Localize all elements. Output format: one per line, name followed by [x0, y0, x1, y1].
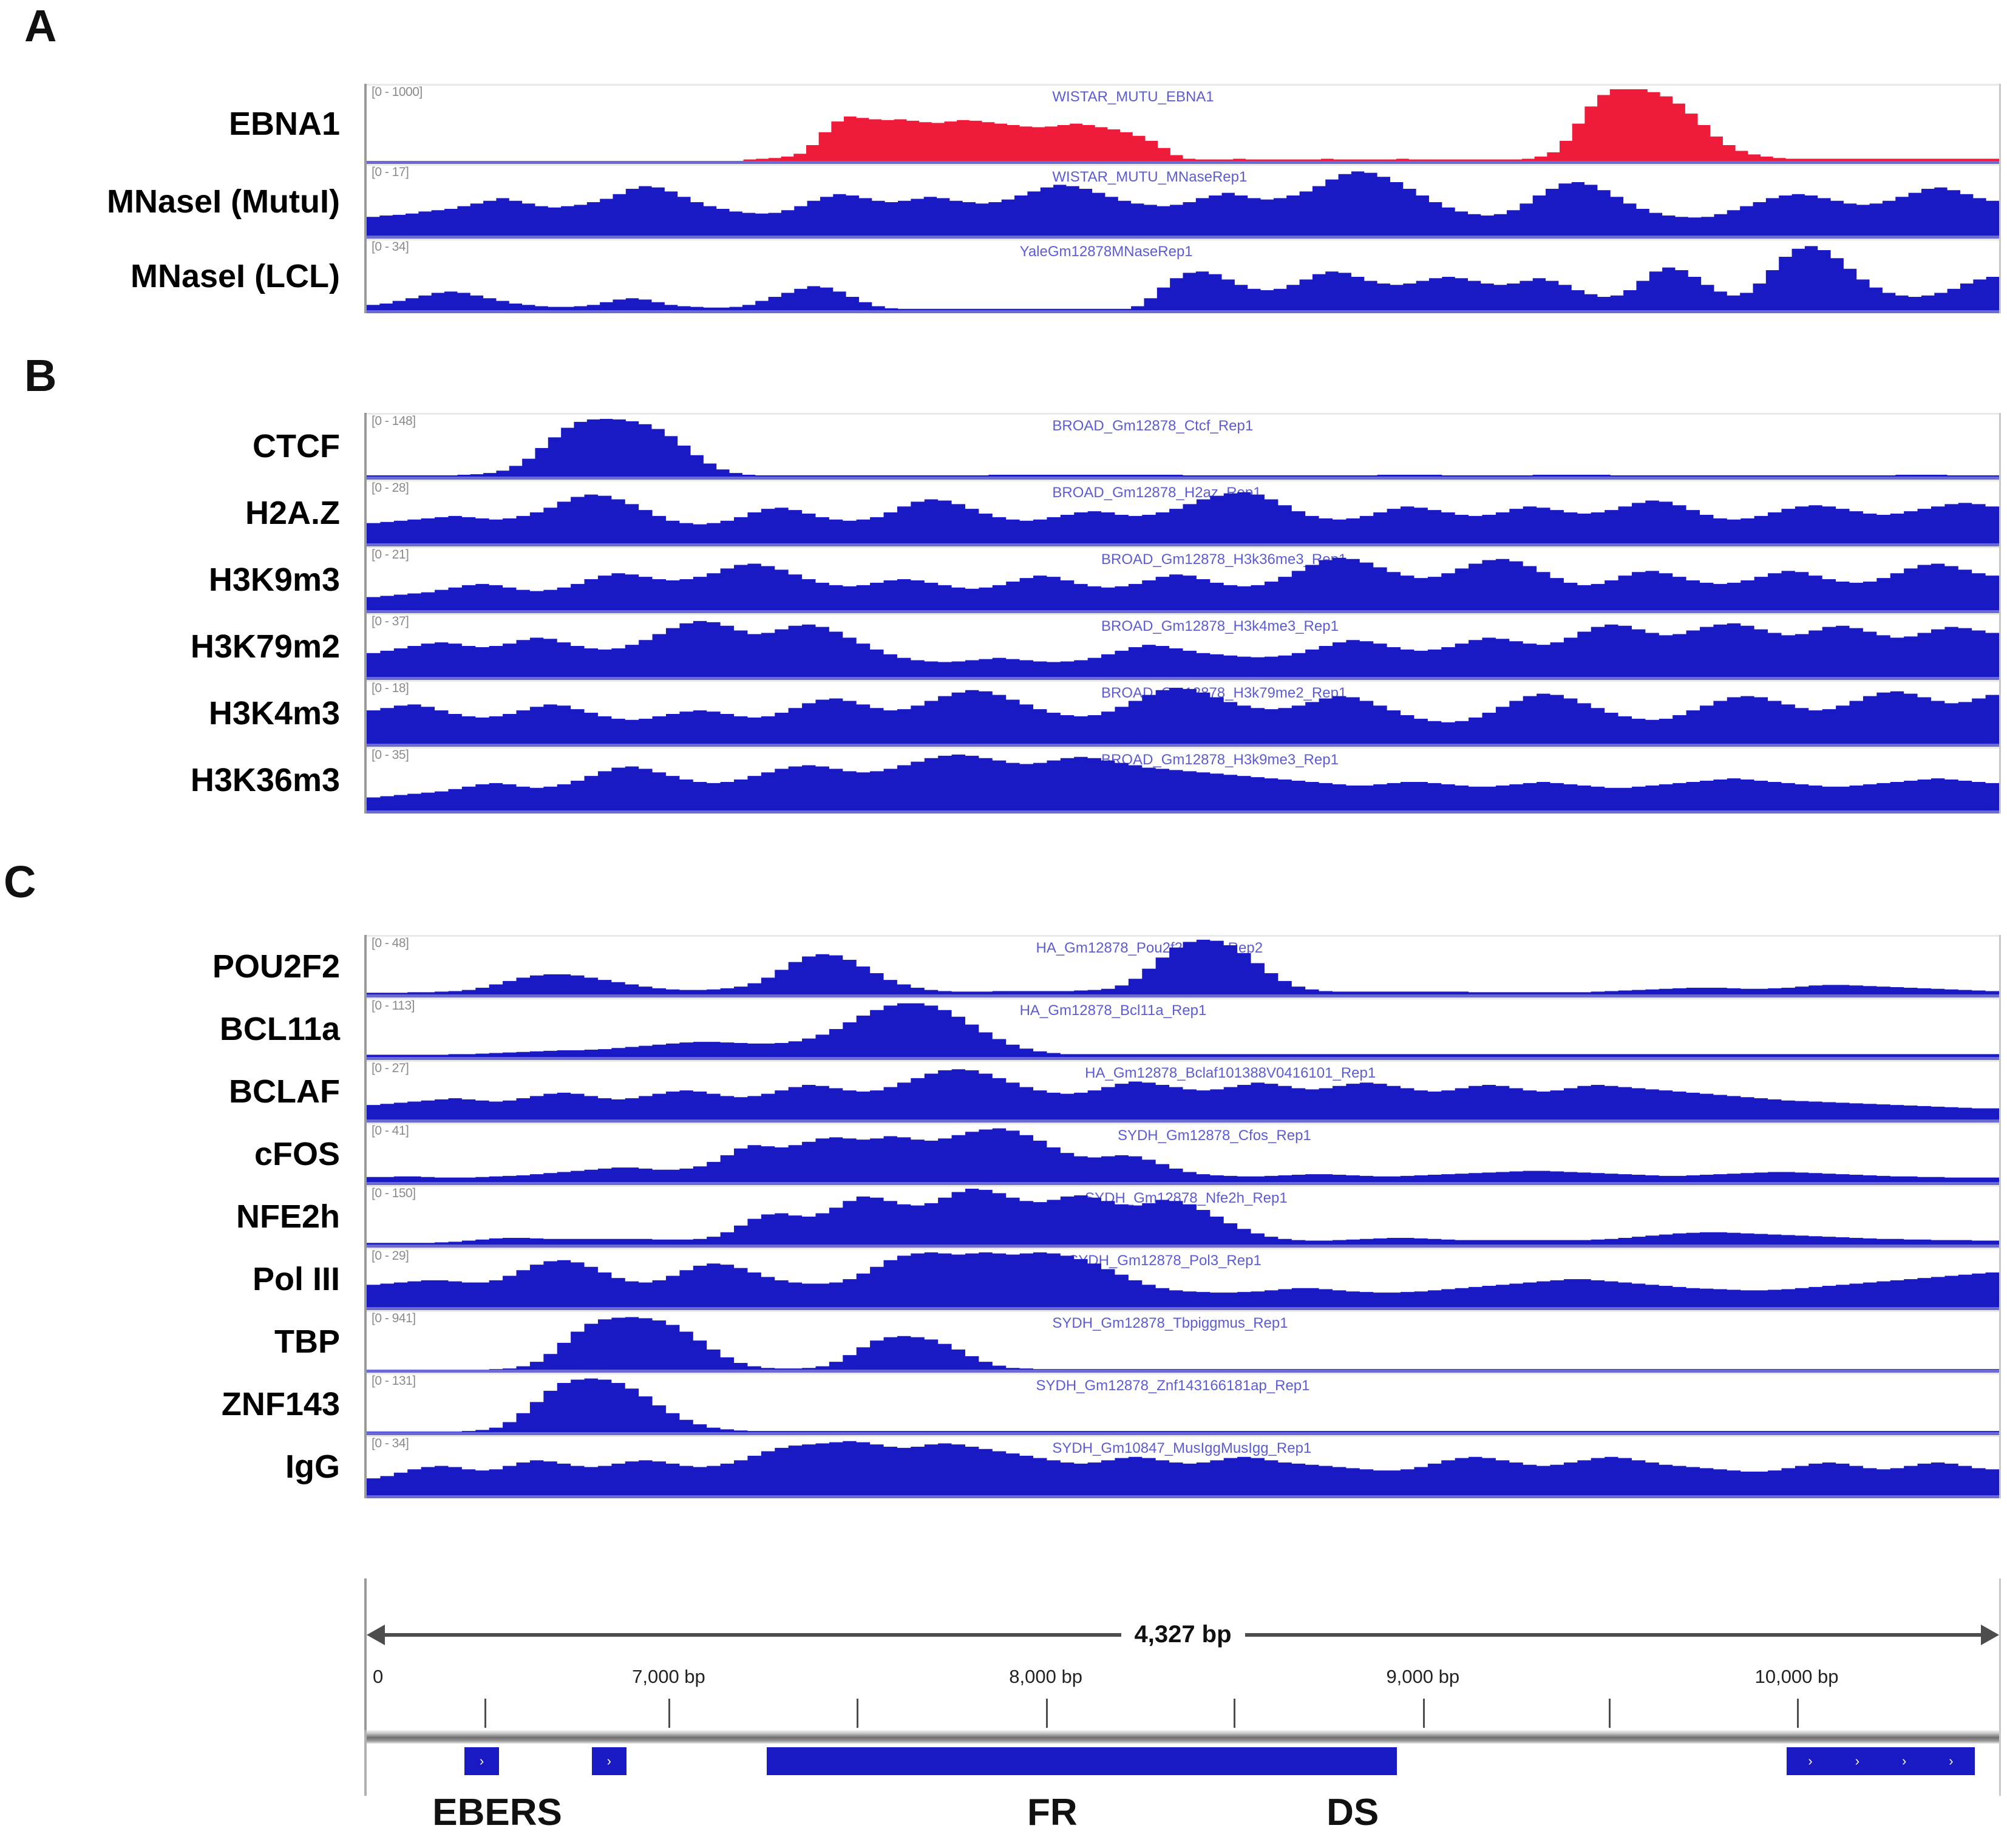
wig-mnase-mutui — [367, 169, 1999, 236]
track-plot-tbp[interactable]: [0 - 941] SYDH_Gm12878_Tbpiggmus_Rep1 — [367, 1310, 1999, 1373]
wig-znf143 — [367, 1376, 1999, 1432]
track-label-pol3: Pol III — [0, 1260, 340, 1298]
track-header-line — [367, 480, 1999, 481]
track-row-cfos[interactable]: cFOS [0 - 41] SYDH_Gm12878_Cfos_Rep1 — [0, 1123, 2007, 1185]
track-header-line — [367, 164, 1999, 166]
track-row-h2az[interactable]: H2A.Z [0 - 28] BROAD_Gm12878_H2az_Rep1 — [0, 480, 2007, 546]
ruler-tick — [857, 1699, 858, 1728]
track-baseline — [367, 810, 1999, 814]
track-header-line — [367, 747, 1999, 749]
igv-figure: A EBNA1 [0 - 1000] WISTAR_MUTU_EBNA1 MNa… — [0, 0, 2007, 1848]
wig-h3k4m3 — [367, 684, 1999, 744]
ruler-tick-label: 10,000 bp — [1755, 1666, 1839, 1688]
gene-feature-label: DS — [1326, 1791, 1379, 1834]
track-header-line — [367, 997, 1999, 999]
gene-feature[interactable]: › — [464, 1747, 498, 1775]
track-header-line — [367, 1185, 1999, 1187]
track-label-tbp: TBP — [0, 1323, 340, 1361]
track-label-nfe2h: NFE2h — [0, 1198, 340, 1235]
track-baseline — [367, 1495, 1999, 1498]
track-plot-bclaf[interactable]: [0 - 27] HA_Gm12878_Bclaf101388V0416101_… — [367, 1060, 1999, 1123]
wig-cfos — [367, 1126, 1999, 1182]
span-length-label: 4,327 bp — [1121, 1621, 1245, 1648]
track-plot-h3k36m3[interactable]: [0 - 35] BROAD_Gm12878_H3k9me3_Rep1 — [367, 747, 1999, 814]
strand-arrow-icon: › — [1902, 1755, 1906, 1768]
ruler-tick — [668, 1699, 670, 1728]
track-label-h3k36m3: H3K36m3 — [0, 761, 340, 799]
track-row-pou2f2[interactable]: POU2F2 [0 - 48] HA_Gm12878_Pou2f2Pcr1x_R… — [0, 935, 2007, 997]
track-row-znf143[interactable]: ZNF143 [0 - 131] SYDH_Gm12878_Znf1431661… — [0, 1373, 2007, 1435]
track-row-h3k36m3[interactable]: H3K36m3 [0 - 35] BROAD_Gm12878_H3k9me3_R… — [0, 747, 2007, 814]
ruler-tick — [1046, 1699, 1048, 1728]
strand-arrow-icon: › — [1949, 1755, 1953, 1768]
gene-feature[interactable]: ›››› — [1787, 1747, 1974, 1775]
ruler-tick — [1423, 1699, 1425, 1728]
track-row-nfe2h[interactable]: NFE2h [0 - 150] SYDH_Gm12878_Nfe2h_Rep1 — [0, 1185, 2007, 1248]
track-header-line — [367, 546, 1999, 548]
track-plot-nfe2h[interactable]: [0 - 150] SYDH_Gm12878_Nfe2h_Rep1 — [367, 1185, 1999, 1248]
track-plot-h2az[interactable]: [0 - 28] BROAD_Gm12878_H2az_Rep1 — [367, 480, 1999, 546]
track-header-line — [367, 1310, 1999, 1312]
ruler-origin-label: 0 — [373, 1666, 383, 1688]
track-label-h3k4m3: H3K4m3 — [0, 695, 340, 732]
track-label-mnase-mutui: MNaseI (MutuI) — [0, 183, 340, 220]
span-arrow-right-head — [1981, 1625, 1999, 1645]
track-row-mnase-lcl[interactable]: MNaseI (LCL) [0 - 34] YaleGm12878MNaseRe… — [0, 239, 2007, 313]
track-plot-pou2f2[interactable]: [0 - 48] HA_Gm12878_Pou2f2Pcr1x_Rep2 — [367, 935, 1999, 997]
track-plot-cfos[interactable]: [0 - 41] SYDH_Gm12878_Cfos_Rep1 — [367, 1123, 1999, 1185]
track-plot-znf143[interactable]: [0 - 131] SYDH_Gm12878_Znf143166181ap_Re… — [367, 1373, 1999, 1435]
track-label-bcl11a: BCL11a — [0, 1010, 340, 1048]
track-baseline — [367, 310, 1999, 313]
track-header-line — [367, 84, 1999, 86]
ruler-tick-label: 7,000 bp — [632, 1666, 705, 1688]
track-row-h3k4m3[interactable]: H3K4m3 [0 - 18] BROAD_Gm12878_H3k79me2_R… — [0, 680, 2007, 747]
track-plot-h3k9m3[interactable]: [0 - 21] BROAD_Gm12878_H3k36me3_Rep1 — [367, 546, 1999, 613]
track-label-znf143: ZNF143 — [0, 1385, 340, 1423]
wig-h3k79m2 — [367, 617, 1999, 677]
ruler-right-edge — [1999, 1578, 2001, 1730]
track-header-line — [367, 1435, 1999, 1437]
track-label-mnase-lcl: MNaseI (LCL) — [0, 257, 340, 295]
span-arrow-left-head — [367, 1625, 385, 1645]
track-label-ctcf: CTCF — [0, 427, 340, 465]
track-plot-pol3[interactable]: [0 - 29] SYDH_Gm12878_Pol3_Rep1 — [367, 1248, 1999, 1310]
wig-bcl11a — [367, 1001, 1999, 1057]
wig-nfe2h — [367, 1189, 1999, 1245]
track-header-line — [367, 1373, 1999, 1374]
gene-feature[interactable] — [767, 1747, 1397, 1775]
track-row-igg[interactable]: IgG [0 - 34] SYDH_Gm10847_MusIggMusIgg_R… — [0, 1435, 2007, 1498]
strand-arrow-icon: › — [607, 1755, 611, 1768]
strand-arrow-icon: › — [480, 1755, 484, 1768]
wig-ctcf — [367, 417, 1999, 477]
wig-h3k9m3 — [367, 551, 1999, 610]
ruler[interactable]: 4,327 bp 0 7,000 bp8,000 bp9,000 bp10,00… — [367, 1578, 1999, 1730]
track-row-bclaf[interactable]: BCLAF [0 - 27] HA_Gm12878_Bclaf101388V04… — [0, 1060, 2007, 1123]
track-plot-mnase-mutui[interactable]: [0 - 17] WISTAR_MUTU_MNaseRep1 — [367, 164, 1999, 239]
gene-feature-labels: EBERSFRDS — [367, 1791, 1999, 1848]
ruler-tick — [1797, 1699, 1799, 1728]
strand-arrow-icon: › — [1808, 1755, 1812, 1768]
track-label-bclaf: BCLAF — [0, 1073, 340, 1110]
ruler-tick-label: 8,000 bp — [1009, 1666, 1082, 1688]
track-header-line — [367, 1060, 1999, 1062]
track-header-line — [367, 935, 1999, 937]
gene-feature[interactable]: › — [592, 1747, 626, 1775]
track-header-line — [367, 613, 1999, 615]
panel-letter-c: C — [4, 856, 36, 908]
gene-feature-label: FR — [1027, 1791, 1078, 1834]
wig-igg — [367, 1439, 1999, 1495]
wig-h3k36m3 — [367, 751, 1999, 810]
track-label-h2az: H2A.Z — [0, 494, 340, 532]
track-header-line — [367, 239, 1999, 240]
track-plot-igg[interactable]: [0 - 34] SYDH_Gm10847_MusIggMusIgg_Rep1 — [367, 1435, 1999, 1498]
gene-feature-track[interactable]: ›››››› — [367, 1747, 1999, 1781]
wig-pou2f2 — [367, 939, 1999, 994]
gene-feature-label: EBERS — [432, 1791, 562, 1834]
strand-arrow-icon: › — [1855, 1755, 1859, 1768]
track-plot-bcl11a[interactable]: [0 - 113] HA_Gm12878_Bcl11a_Rep1 — [367, 997, 1999, 1060]
wig-pol3 — [367, 1251, 1999, 1307]
track-label-ebna1: EBNA1 — [0, 105, 340, 143]
track-label-cfos: cFOS — [0, 1135, 340, 1173]
wig-ebna1 — [367, 89, 1999, 161]
track-header-line — [367, 680, 1999, 682]
ruler-tick — [1609, 1699, 1611, 1728]
track-row-h3k9m3[interactable]: H3K9m3 [0 - 21] BROAD_Gm12878_H3k36me3_R… — [0, 546, 2007, 613]
panel-letter-a: A — [24, 0, 56, 52]
wig-bclaf — [367, 1064, 1999, 1119]
track-plot-ebna1[interactable]: [0 - 1000] WISTAR_MUTU_EBNA1 — [367, 84, 1999, 164]
track-header-line — [367, 1248, 1999, 1249]
track-plot-h3k79m2[interactable]: [0 - 37] BROAD_Gm12878_H3k4me3_Rep1 — [367, 613, 1999, 680]
track-row-ebna1[interactable]: EBNA1 [0 - 1000] WISTAR_MUTU_EBNA1 — [0, 84, 2007, 164]
track-row-mnase-mutui[interactable]: MNaseI (MutuI) [0 - 17] WISTAR_MUTU_MNas… — [0, 164, 2007, 239]
ruler-tick-label: 9,000 bp — [1386, 1666, 1459, 1688]
track-label-pou2f2: POU2F2 — [0, 948, 340, 985]
track-row-tbp[interactable]: TBP [0 - 941] SYDH_Gm12878_Tbpiggmus_Rep… — [0, 1310, 2007, 1373]
panel-letter-b: B — [24, 350, 56, 401]
track-label-h3k9m3: H3K9m3 — [0, 561, 340, 599]
wig-mnase-lcl — [367, 243, 1999, 310]
track-label-h3k79m2: H3K79m2 — [0, 628, 340, 665]
ruler-tick — [1234, 1699, 1235, 1728]
track-plot-mnase-lcl[interactable]: [0 - 34] YaleGm12878MNaseRep1 — [367, 239, 1999, 313]
track-header-line — [367, 1123, 1999, 1124]
wig-tbp — [367, 1314, 1999, 1370]
track-header-line — [367, 413, 1999, 415]
track-row-bcl11a[interactable]: BCL11a [0 - 113] HA_Gm12878_Bcl11a_Rep1 — [0, 997, 2007, 1060]
track-label-igg: IgG — [0, 1448, 340, 1486]
ideogram-bar — [367, 1730, 1999, 1744]
feature-right-edge — [1999, 1730, 2001, 1796]
track-plot-ctcf[interactable]: [0 - 148] BROAD_Gm12878_Ctcf_Rep1 — [367, 413, 1999, 480]
track-row-pol3[interactable]: Pol III [0 - 29] SYDH_Gm12878_Pol3_Rep1 — [0, 1248, 2007, 1310]
track-plot-h3k4m3[interactable]: [0 - 18] BROAD_Gm12878_H3k79me2_Rep1 — [367, 680, 1999, 747]
track-row-ctcf[interactable]: CTCF [0 - 148] BROAD_Gm12878_Ctcf_Rep1 — [0, 413, 2007, 480]
ruler-tick — [484, 1699, 486, 1728]
track-row-h3k79m2[interactable]: H3K79m2 [0 - 37] BROAD_Gm12878_H3k4me3_R… — [0, 613, 2007, 680]
wig-h2az — [367, 484, 1999, 543]
